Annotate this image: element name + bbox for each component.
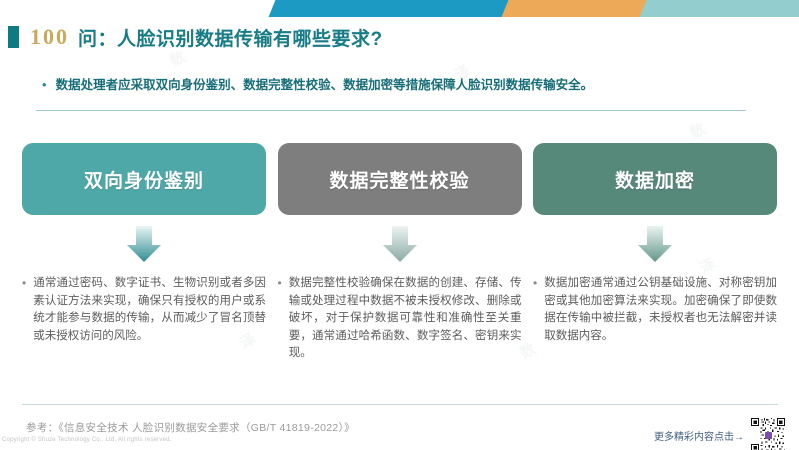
header-divider	[36, 110, 746, 111]
lead-bullet-row: • 数据处理者应采取双向身份鉴别、数据完整性校验、数据加密等措施保障人脸识别数据…	[42, 76, 754, 94]
title-text: 问：人脸识别数据传输有哪些要求?	[78, 24, 383, 51]
copyright-text: Copyright © Shuze Technology Co., Ltd. A…	[2, 437, 172, 443]
bullet-icon: •	[278, 275, 282, 292]
down-arrow-icon	[127, 226, 161, 262]
arrow-wrap-2	[383, 215, 417, 273]
column-2: 数据完整性校验 • 数据完整性校验确保在数据的创建、存储、传输或处理过程中数据不…	[278, 143, 522, 393]
qr-code-icon[interactable]	[751, 418, 785, 450]
top-bar-teal	[640, 0, 799, 17]
column-3: 数据加密 • 数据加密通常通过公钥基础设施、对称密钥加密或其他加密算法来实现。加…	[533, 143, 777, 393]
title-number: 100	[30, 24, 69, 50]
footer-divider	[22, 404, 778, 405]
bullet-icon: •	[533, 275, 537, 292]
page-title: 100 问：人脸识别数据传输有哪些要求?	[8, 22, 383, 52]
bullet-icon: •	[42, 76, 47, 93]
column-1: 双向身份鉴别 • 通常通过密码、数字证书、生物识别或者多因素认证方法来实现，确保…	[22, 143, 266, 393]
body-row-2: • 数据完整性校验确保在数据的创建、存储、传输或处理过程中数据不被未授权修改、删…	[278, 275, 522, 363]
top-bar-blue	[269, 0, 516, 17]
slide-root: 数 泽 数 泽 数 泽 100 问：人脸识别数据传输有哪些要求? • 数据处理者…	[0, 0, 799, 450]
qr-label: 更多精彩内容点击→	[654, 428, 744, 443]
columns-container: 双向身份鉴别 • 通常通过密码、数字证书、生物识别或者多因素认证方法来实现，确保…	[0, 143, 799, 393]
down-arrow-icon	[383, 226, 417, 262]
top-bar-orange	[502, 0, 654, 17]
body-text-2: 数据完整性校验确保在数据的创建、存储、传输或处理过程中数据不被未授权修改、删除或…	[289, 275, 522, 363]
reference-text: 参考：《信息安全技术 人脸识别数据安全要求（GB/T 41819-2022）》	[26, 420, 355, 435]
card-header-3[interactable]: 数据加密	[533, 143, 777, 215]
card-header-1[interactable]: 双向身份鉴别	[22, 143, 266, 215]
card-label-1: 双向身份鉴别	[84, 166, 204, 193]
top-decoration-bars	[0, 0, 799, 17]
body-row-3: • 数据加密通常通过公钥基础设施、对称密钥加密或其他加密算法来实现。加密确保了即…	[533, 275, 777, 345]
watermark: 数	[686, 118, 709, 144]
down-arrow-icon	[638, 226, 672, 262]
lead-text: 数据处理者应采取双向身份鉴别、数据完整性校验、数据加密等措施保障人脸识别数据传输…	[56, 76, 594, 94]
arrow-wrap-3	[638, 215, 672, 273]
card-header-2[interactable]: 数据完整性校验	[278, 143, 522, 215]
card-label-2: 数据完整性校验	[329, 166, 469, 193]
body-row-1: • 通常通过密码、数字证书、生物识别或者多因素认证方法来实现，确保只有授权的用户…	[22, 275, 266, 345]
body-text-1: 通常通过密码、数字证书、生物识别或者多因素认证方法来实现，确保只有授权的用户或系…	[33, 275, 266, 345]
bullet-icon: •	[22, 275, 26, 292]
arrow-wrap-1	[127, 215, 161, 273]
title-square-marker-icon	[8, 26, 19, 48]
qr-row[interactable]: 更多精彩内容点击→	[654, 418, 785, 450]
card-label-3: 数据加密	[615, 166, 695, 193]
body-text-3: 数据加密通常通过公钥基础设施、对称密钥加密或其他加密算法来实现。加密确保了即使数…	[544, 275, 777, 345]
